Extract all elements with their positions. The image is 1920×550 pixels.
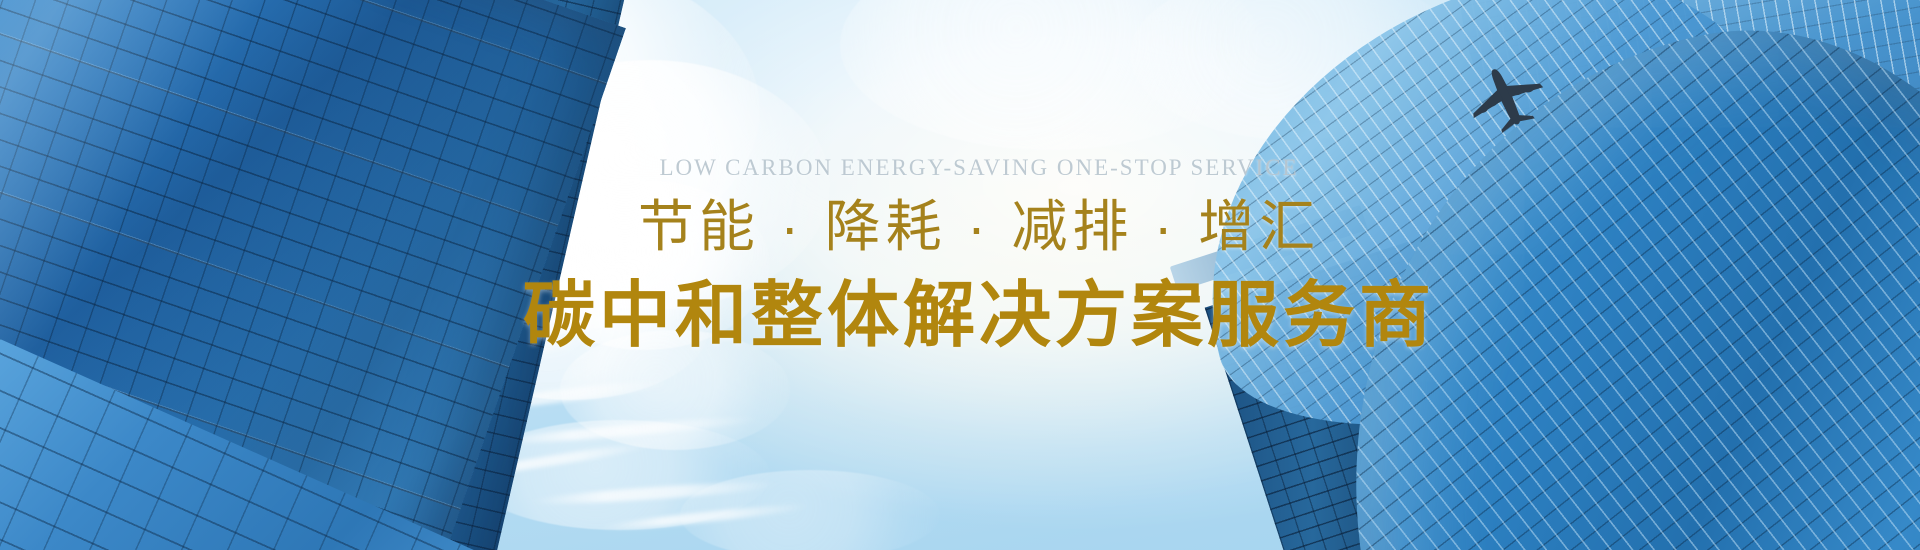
hero-banner: LOW CARBON ENERGY-SAVING ONE-STOP SERVIC…	[0, 0, 1920, 550]
